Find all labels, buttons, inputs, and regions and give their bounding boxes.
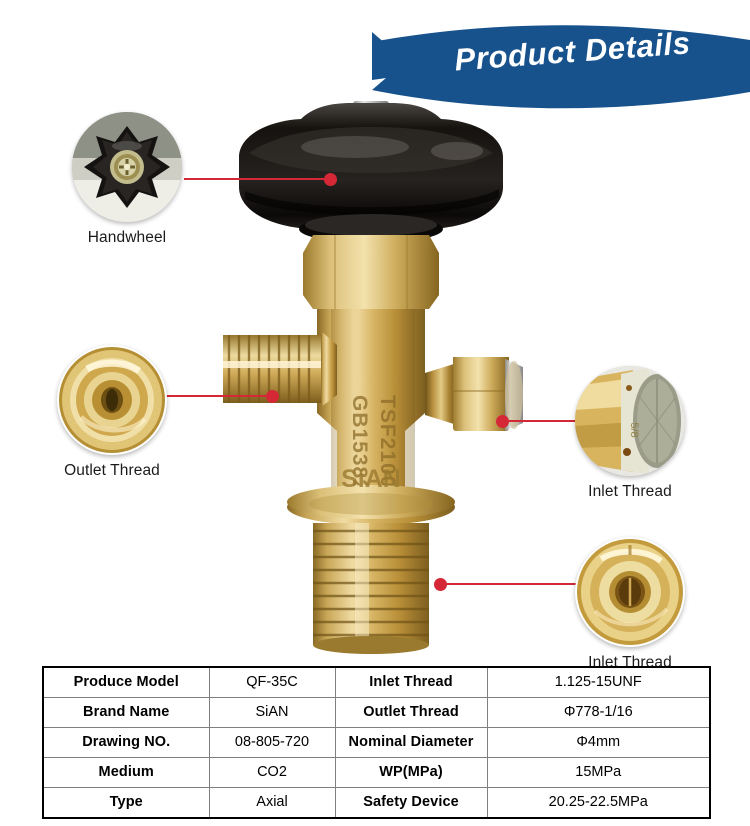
callout-image-handwheel: [72, 112, 182, 222]
spec-key: Type: [43, 788, 209, 819]
spec-key: Safety Device: [335, 788, 487, 819]
callout-inlet-thread-side: 5/8 Inlet Thread: [575, 366, 700, 501]
callout-inlet-thread-base: Inlet Thread: [575, 537, 700, 672]
callout-image-inlet-thread-side: 5/8: [575, 366, 685, 476]
callout-label-handwheel: Handwheel: [72, 229, 182, 247]
spec-value: Axial: [209, 788, 335, 819]
spec-key: WP(MPa): [335, 758, 487, 788]
spec-value: QF-35C: [209, 667, 335, 698]
callout-label-inlet-thread-side: Inlet Thread: [560, 483, 700, 501]
callout-image-outlet-thread: [57, 345, 167, 455]
table-row: Medium CO2 WP(MPa) 15MPa: [43, 758, 710, 788]
spec-key: Nominal Diameter: [335, 728, 487, 758]
spec-key: Produce Model: [43, 667, 209, 698]
brand-engraving: SiAN: [341, 465, 401, 493]
inlet-thread-port: [313, 523, 429, 654]
spec-key: Medium: [43, 758, 209, 788]
product-details-page: Product Details: [0, 0, 750, 826]
specification-table: Produce Model QF-35C Inlet Thread 1.125-…: [42, 666, 711, 819]
callout-label-outlet-thread: Outlet Thread: [42, 462, 182, 480]
spec-value: 1.125-15UNF: [487, 667, 710, 698]
leader-dot-outlet-thread: [266, 390, 279, 403]
spec-value: CO2: [209, 758, 335, 788]
spec-value: 08-805-720: [209, 728, 335, 758]
leader-dot-inlet-thread-side: [496, 415, 509, 428]
callout-image-inlet-thread-base: [575, 537, 685, 647]
leader-line-inlet-thread-base: [438, 583, 590, 585]
leader-line-handwheel: [184, 178, 330, 180]
bonnet-hex-nut: [303, 235, 439, 309]
callout-handwheel: Handwheel: [72, 112, 182, 247]
spec-key: Inlet Thread: [335, 667, 487, 698]
callout-outlet-thread: Outlet Thread: [57, 345, 182, 480]
spec-value: Φ4mm: [487, 728, 710, 758]
spec-key: Outlet Thread: [335, 698, 487, 728]
spec-value: 20.25-22.5MPa: [487, 788, 710, 819]
spec-value: Φ778-1/16: [487, 698, 710, 728]
spec-value: SiAN: [209, 698, 335, 728]
spec-key: Drawing NO.: [43, 728, 209, 758]
table-row: Brand Name SiAN Outlet Thread Φ778-1/16: [43, 698, 710, 728]
svg-text:5/8: 5/8: [628, 422, 640, 437]
spec-key: Brand Name: [43, 698, 209, 728]
leader-dot-handwheel: [324, 173, 337, 186]
leader-dot-inlet-thread-base: [434, 578, 447, 591]
handwheel: [239, 103, 503, 243]
spec-value: 15MPa: [487, 758, 710, 788]
table-row: Type Axial Safety Device 20.25-22.5MPa: [43, 788, 710, 819]
table-row: Drawing NO. 08-805-720 Nominal Diameter …: [43, 728, 710, 758]
product-image-valve: GB15382 TSF210029: [205, 95, 535, 665]
table-row: Produce Model QF-35C Inlet Thread 1.125-…: [43, 667, 710, 698]
